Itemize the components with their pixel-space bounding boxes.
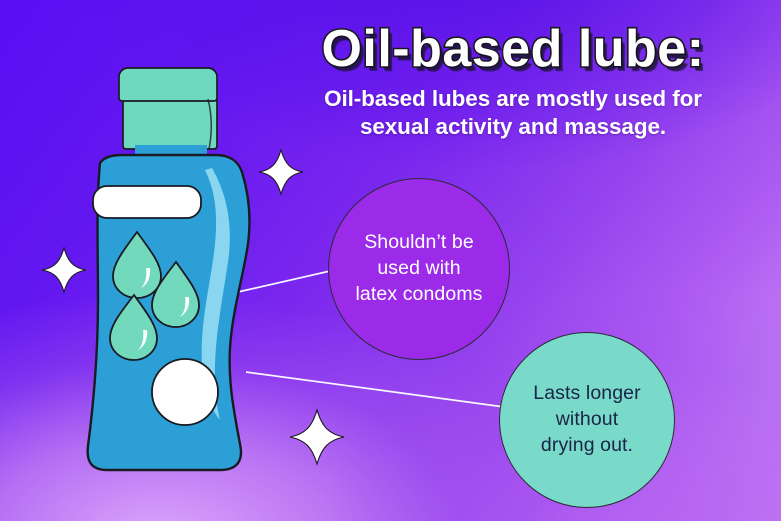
callout-latex-warning-text: Shouldn’t be used with latex condoms	[345, 230, 492, 308]
callout-longevity-line-1: Lasts longer	[533, 382, 640, 404]
callout-longevity[interactable]: Lasts longer without drying out.	[499, 332, 675, 508]
sparkle-icon-top	[259, 150, 303, 194]
sparkle-icon-bottom	[290, 410, 344, 464]
callout-latex-line-3: latex condoms	[355, 283, 482, 305]
bottle-cap-upper	[119, 68, 217, 101]
bottle-label	[93, 186, 201, 218]
bottle-circle-emblem	[152, 359, 218, 425]
lube-bottle-illustration	[88, 68, 250, 470]
bottle-cap-lower	[123, 98, 217, 149]
subtitle-line-1: Oil-based lubes are mostly used for	[324, 86, 702, 111]
subtitle-line-2: sexual activity and massage.	[258, 113, 768, 142]
page-subtitle: Oil-based lubes are mostly used for sexu…	[258, 85, 768, 143]
callout-latex-line-2: used with	[377, 257, 460, 279]
callout-longevity-text: Lasts longer without drying out.	[523, 381, 650, 459]
title-block: Oil-based lube: Oil-based lubes are most…	[258, 22, 768, 142]
callout-latex-line-1: Shouldn’t be	[364, 231, 474, 253]
sparkle-icon-left	[42, 248, 86, 292]
callout-longevity-line-3: drying out.	[541, 434, 633, 456]
callout-longevity-line-2: without	[556, 408, 619, 430]
connector-line-to-teal-circle	[246, 372, 512, 408]
page-title: Oil-based lube:	[258, 22, 768, 77]
callout-latex-warning[interactable]: Shouldn’t be used with latex condoms	[328, 178, 510, 360]
infographic-canvas: Oil-based lube: Oil-based lubes are most…	[0, 0, 781, 521]
